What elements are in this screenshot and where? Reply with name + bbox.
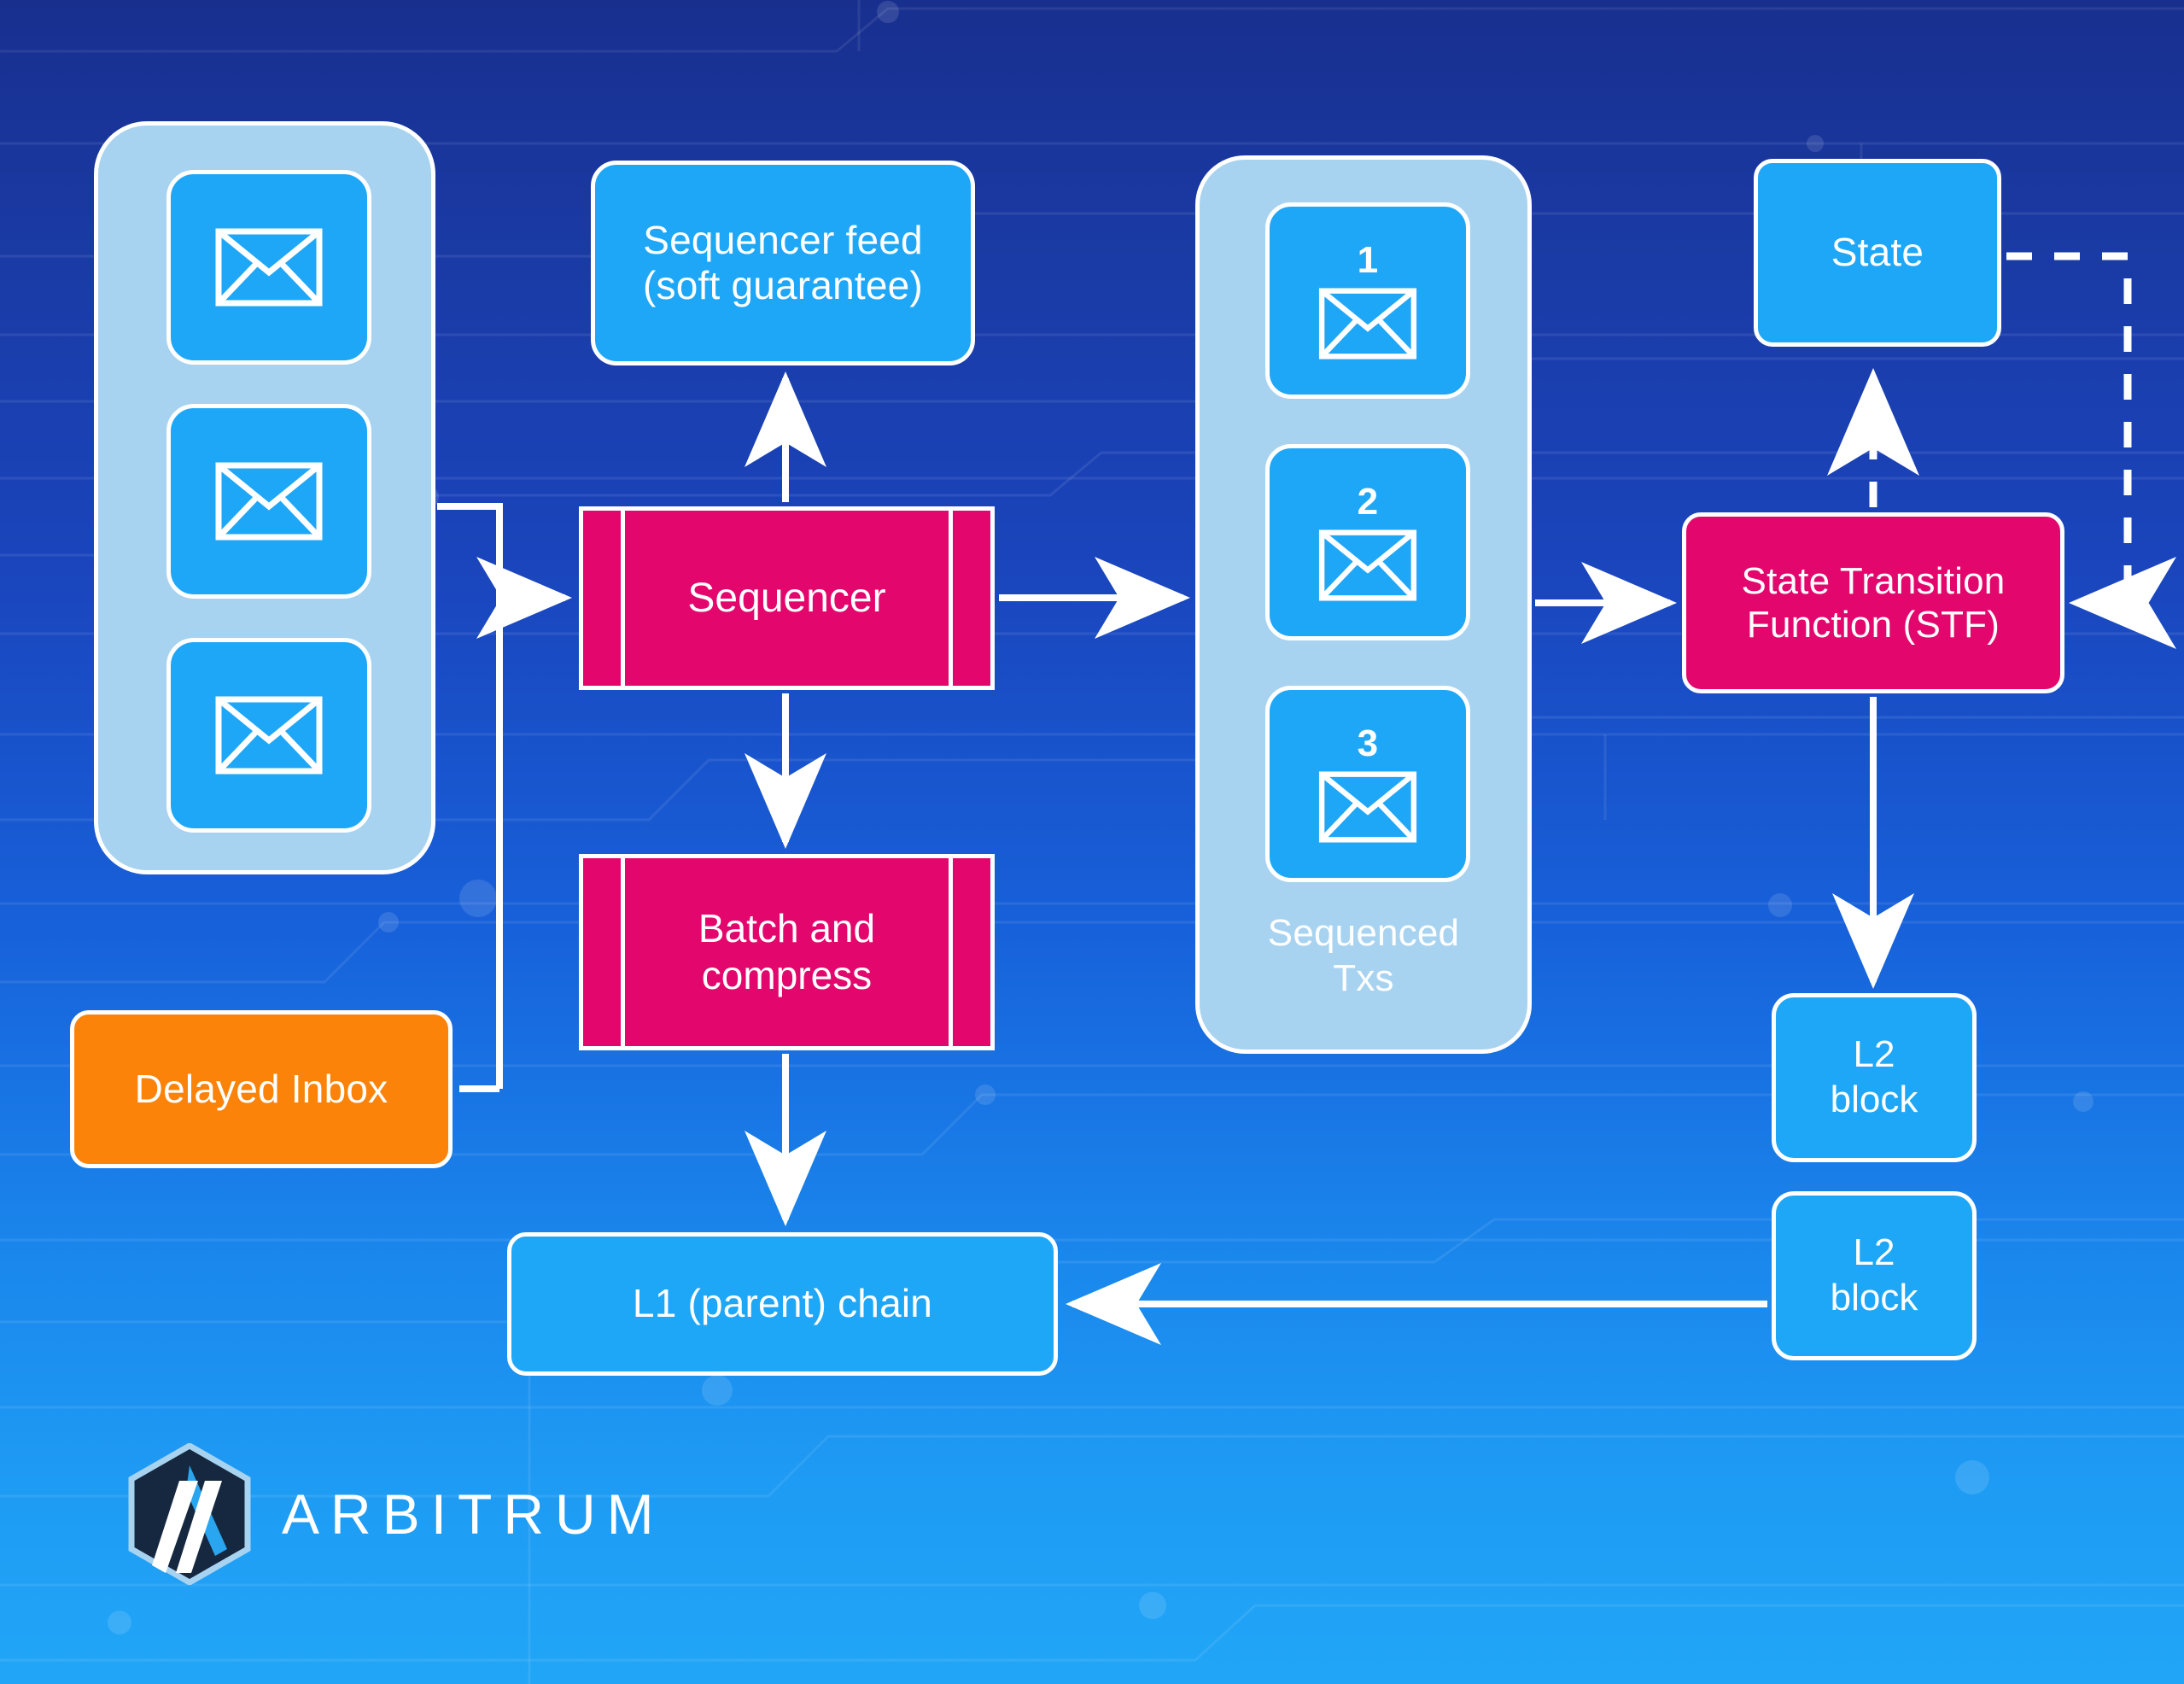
l2-block-1-line2: block [1831,1079,1918,1120]
delayed-inbox-label: Delayed Inbox [135,1067,388,1112]
stf-line2: Function (STF) [1747,604,2000,646]
envelope-icon [1317,771,1418,843]
l1-parent-chain-box[interactable]: L1 (parent) chain [507,1232,1058,1376]
sequencer-feed-line2: (soft guarantee) [643,263,923,307]
inbox-message-3[interactable] [166,638,371,833]
state-transition-function-box[interactable]: State Transition Function (STF) [1682,512,2064,693]
sequenced-txs-label-line1: Sequenced [1268,912,1459,954]
sequencer-feed-line1: Sequencer feed [643,218,923,262]
l2-block-2[interactable]: L2 block [1772,1191,1977,1360]
envelope-icon [215,228,323,307]
l1-chain-label: L1 (parent) chain [633,1281,932,1326]
stf-line1: State Transition [1742,560,2006,602]
envelope-icon [215,462,323,541]
l2-block-2-line2: block [1831,1277,1918,1319]
sequenced-txs-label: Sequenced Txs [1200,911,1527,1002]
state-box[interactable]: State [1754,159,2001,347]
sequencer-box[interactable]: Sequencer [579,506,995,690]
arbitrum-logo-icon [126,1443,253,1585]
sequenced-tx-3-number: 3 [1358,725,1379,763]
inbox-message-1[interactable] [166,170,371,365]
delayed-inbox-box[interactable]: Delayed Inbox [70,1010,453,1168]
sequenced-tx-3[interactable]: 3 [1265,686,1470,882]
sequenced-tx-2-number: 2 [1358,483,1379,521]
envelope-icon [215,696,323,775]
sequencer-feed-box[interactable]: Sequencer feed (soft guarantee) [591,161,975,365]
envelope-icon [1317,288,1418,360]
sequencer-label: Sequencer [687,574,885,623]
sequenced-txs-label-line2: Txs [1333,957,1393,999]
state-label: State [1831,230,1924,275]
inbox-message-2[interactable] [166,404,371,599]
wire-inbox-to-sequencer [437,506,499,1089]
batch-and-compress-box[interactable]: Batch and compress [579,854,995,1050]
sequenced-txs-container: 1 2 3 Sequenced Txs [1195,155,1532,1054]
diagram-canvas: Sequencer feed (soft guarantee) Sequence… [0,0,2184,1684]
l2-block-1[interactable]: L2 block [1772,993,1977,1162]
envelope-icon [1317,529,1418,601]
l2-block-1-line1: L2 [1854,1033,1895,1075]
batch-compress-line2: compress [702,953,872,997]
batch-compress-line1: Batch and [698,906,875,950]
arbitrum-wordmark: ARBITRUM [282,1482,665,1547]
sequenced-tx-1[interactable]: 1 [1265,202,1470,399]
l2-block-2-line1: L2 [1854,1231,1895,1273]
inbox-message-stack [94,121,435,874]
sequenced-tx-2[interactable]: 2 [1265,444,1470,640]
sequenced-tx-1-number: 1 [1358,242,1379,279]
arbitrum-logo: ARBITRUM [126,1443,665,1585]
